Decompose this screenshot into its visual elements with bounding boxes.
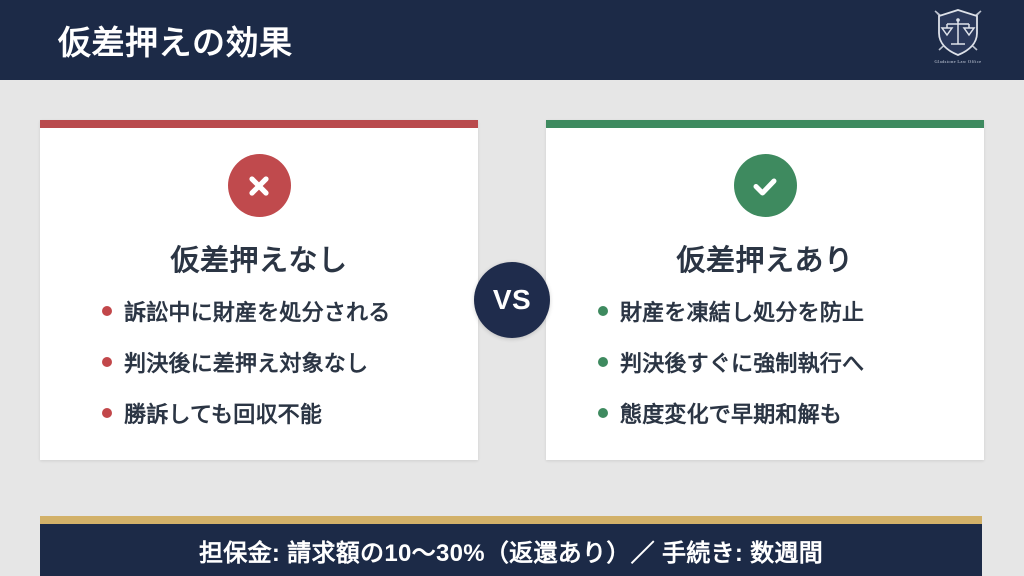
- footer-body: 担保金: 請求額の10〜30%（返還あり）／ 手続き: 数週間: [40, 524, 982, 576]
- bullet-label: 財産を凍結し処分を防止: [620, 295, 864, 327]
- footer-accent-bar: [40, 516, 982, 524]
- bullet-label: 勝訴しても回収不能: [124, 397, 322, 429]
- list-item: 判決後すぐに強制執行へ: [598, 346, 984, 378]
- bullet-dot-icon: [102, 408, 112, 418]
- shield-scales-swords-logo-icon: [927, 6, 989, 58]
- bullet-dot-icon: [102, 357, 112, 367]
- list-item: 訴訟中に財産を処分される: [102, 295, 478, 327]
- cross-circle-icon: [228, 154, 291, 217]
- list-item: 財産を凍結し処分を防止: [598, 295, 984, 327]
- check-glyph: [749, 170, 781, 202]
- card-title: 仮差押えあり: [676, 237, 853, 279]
- page-title: 仮差押えの効果: [58, 16, 293, 64]
- bullet-list: 訴訟中に財産を処分される 判決後に差押え対象なし 勝訴しても回収不能: [40, 295, 478, 429]
- cross-glyph: [244, 171, 274, 201]
- bullet-label: 判決後に差押え対象なし: [124, 346, 368, 378]
- bullet-label: 判決後すぐに強制執行へ: [620, 346, 864, 378]
- list-item: 勝訴しても回収不能: [102, 397, 478, 429]
- slide-root: 仮差押えの効果: [0, 0, 1024, 576]
- vs-label: VS: [493, 284, 531, 316]
- card-body: 仮差押えなし 訴訟中に財産を処分される 判決後に差押え対象なし 勝訴しても回収不…: [40, 128, 478, 460]
- logo-text: Gladstone Law Office: [935, 59, 982, 64]
- footer-label: 担保金: 請求額の10〜30%（返還あり）／ 手続き: 数週間: [199, 533, 823, 568]
- footer-bar: 担保金: 請求額の10〜30%（返還あり）／ 手続き: 数週間: [40, 516, 982, 576]
- bullet-dot-icon: [598, 357, 608, 367]
- list-item: 判決後に差押え対象なし: [102, 346, 478, 378]
- check-circle-icon: [734, 154, 797, 217]
- comparison-card-negative: 仮差押えなし 訴訟中に財産を処分される 判決後に差押え対象なし 勝訴しても回収不…: [40, 120, 478, 460]
- comparison-card-positive: 仮差押えあり 財産を凍結し処分を防止 判決後すぐに強制執行へ 態度変化で早期和解…: [546, 120, 984, 460]
- header-bar: 仮差押えの効果: [0, 0, 1024, 80]
- card-accent-bar: [546, 120, 984, 128]
- card-body: 仮差押えあり 財産を凍結し処分を防止 判決後すぐに強制執行へ 態度変化で早期和解…: [546, 128, 984, 460]
- bullet-dot-icon: [598, 408, 608, 418]
- vs-badge: VS: [474, 262, 550, 338]
- bullet-label: 訴訟中に財産を処分される: [124, 295, 390, 327]
- bullet-label: 態度変化で早期和解も: [620, 397, 842, 429]
- bullet-list: 財産を凍結し処分を防止 判決後すぐに強制執行へ 態度変化で早期和解も: [546, 295, 984, 429]
- card-title: 仮差押えなし: [170, 237, 347, 279]
- list-item: 態度変化で早期和解も: [598, 397, 984, 429]
- bullet-dot-icon: [102, 306, 112, 316]
- card-accent-bar: [40, 120, 478, 128]
- logo: Gladstone Law Office: [922, 6, 994, 74]
- bullet-dot-icon: [598, 306, 608, 316]
